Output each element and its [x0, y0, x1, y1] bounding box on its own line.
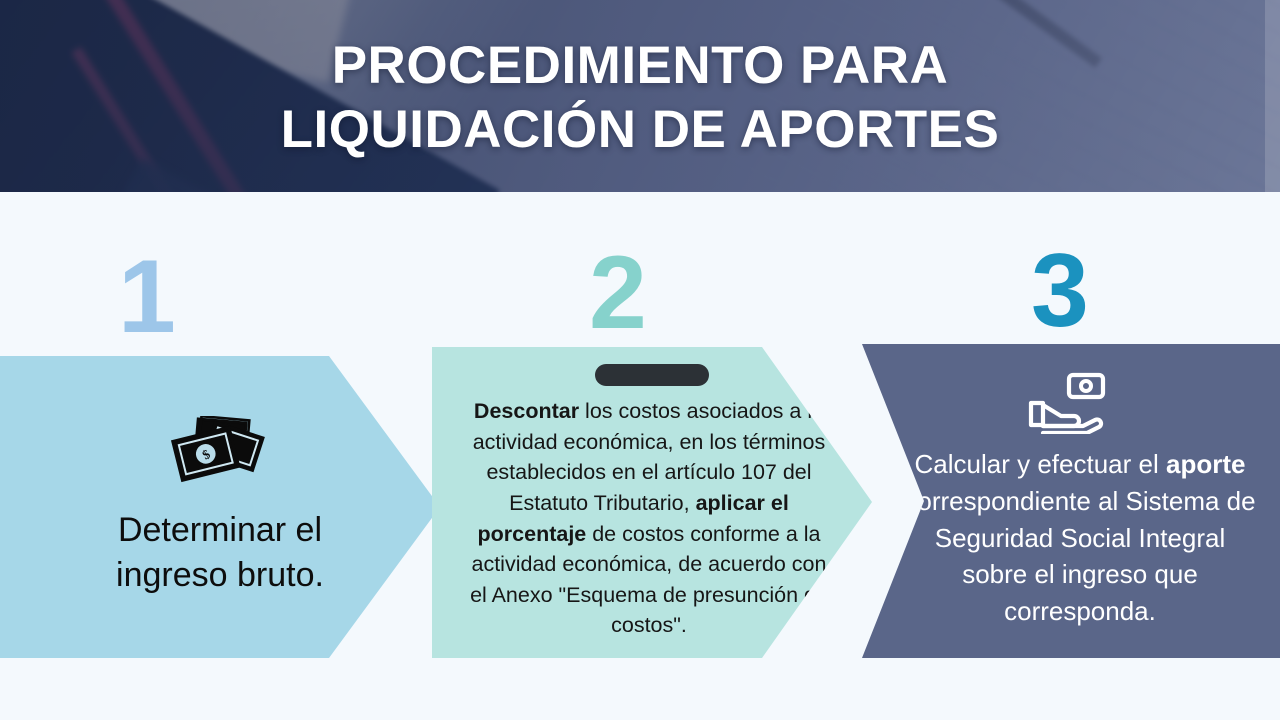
step-3-mid-1: Calcular y efectuar el [915, 449, 1166, 479]
page-title: PROCEDIMIENTO PARA LIQUIDACIÓN DE APORTE… [0, 0, 1280, 192]
step-2-content: Descontar los costos asociados a la acti… [432, 347, 872, 658]
money-stack-icon: $ [168, 416, 272, 494]
step-1-content: $ Determinar el ingreso bruto. [0, 356, 440, 658]
step-1-text-line-2: ingreso bruto. [116, 556, 324, 594]
page-header-banner: PROCEDIMIENTO PARA LIQUIDACIÓN DE APORTE… [0, 0, 1280, 192]
step-3-mid-2: correspondiente al Sistema de Seguridad … [904, 486, 1255, 627]
hand-money-icon [1025, 372, 1117, 434]
step-1-text: Determinar el ingreso bruto. [55, 508, 385, 598]
step-number-2: 2 [589, 241, 645, 345]
step-number-1: 1 [118, 245, 174, 349]
page-title-line-1: PROCEDIMIENTO PARA [332, 38, 949, 94]
step-3-text: Calcular y efectuar el aporte correspond… [904, 446, 1256, 631]
step-panel-3[interactable]: Calcular y efectuar el aporte correspond… [862, 344, 1280, 658]
step-1-text-line-1: Determinar el [118, 511, 322, 549]
step-number-3: 3 [1031, 239, 1087, 343]
step-panel-2[interactable]: Descontar los costos asociados a la acti… [432, 347, 872, 658]
pill-bar-icon [595, 364, 709, 386]
page-title-line-2: LIQUIDACIÓN DE APORTES [281, 102, 1000, 158]
step-panel-1[interactable]: $ Determinar el ingreso bruto. [0, 356, 440, 658]
step-3-bold-1: aporte [1166, 449, 1245, 479]
step-3-content: Calcular y efectuar el aporte correspond… [862, 344, 1280, 658]
step-2-text: Descontar los costos asociados a la acti… [462, 396, 842, 640]
step-2-bold-1: Descontar [474, 399, 579, 423]
steps-stage: 1 2 3 $ Determ [0, 192, 1280, 720]
